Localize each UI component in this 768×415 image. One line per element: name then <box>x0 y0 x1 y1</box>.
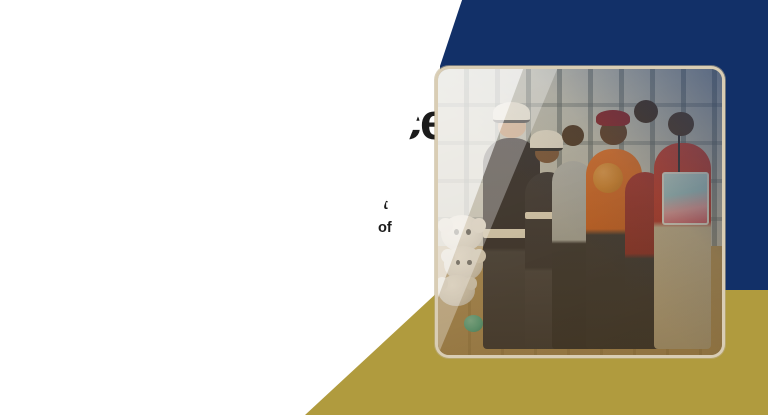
photo-card <box>435 66 725 358</box>
photo-frame <box>438 69 722 355</box>
page-title: Human Resources <box>47 96 407 148</box>
banner-text-block: Human ResourcesOur mission is to provide… <box>47 96 407 262</box>
mission-statement: Our mission is to provide comprehensive … <box>47 148 399 262</box>
human-resources-banner: Human ResourcesOur mission is to provide… <box>0 0 768 415</box>
